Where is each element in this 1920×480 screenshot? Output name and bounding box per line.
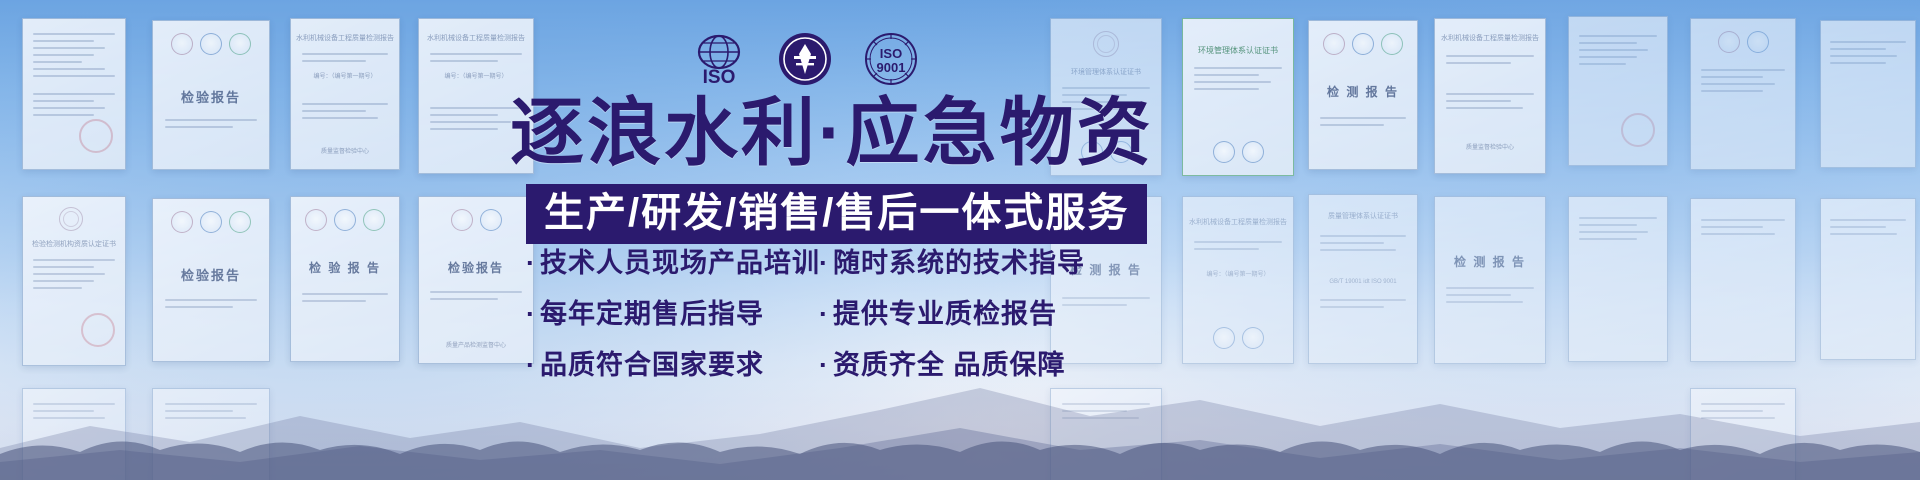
promo-banner: 检验报告 水利机械设备工程质量检测报告 编号：（编号第一期号） 质量监督检验中心…: [0, 0, 1920, 480]
feature-item: ·随时系统的技术指导: [819, 248, 1085, 279]
feature-item: ·技术人员现场产品培训: [526, 248, 811, 279]
certificate-card: 水利机械设备工程质量检测报告 编号：（编号第一期号） 质量监督检验中心: [290, 18, 400, 170]
iso-9001-badge: ISO 9001: [862, 30, 920, 93]
treeline-silhouette: [0, 420, 1920, 480]
feature-item: ·品质符合国家要求: [526, 350, 811, 381]
certificate-card: [22, 18, 126, 170]
feature-item: ·资质齐全 品质保障: [819, 350, 1085, 381]
certificate-card: 水利机械设备工程质量检测报告 质量监督检验中心: [1434, 18, 1546, 174]
bullet-dot: ·: [526, 350, 536, 380]
feature-label: 资质齐全 品质保障: [833, 350, 1066, 380]
subtitle-text: 生产/研发/销售/售后一体式服务: [544, 192, 1129, 234]
iso-9001-bottom-label: 9001: [877, 60, 906, 75]
feature-label: 品质符合国家要求: [540, 350, 764, 380]
bullet-dot: ·: [819, 299, 829, 329]
feature-label: 技术人员现场产品培训: [540, 248, 820, 278]
subtitle-bar: 生产/研发/销售/售后一体式服务: [526, 184, 1147, 244]
feature-label: 提供专业质检报告: [833, 299, 1057, 329]
feature-item: ·每年定期售后指导: [526, 299, 811, 330]
certificate-title: 检 测 报 告: [1309, 83, 1417, 100]
quality-seal-badge: [776, 30, 834, 93]
certificate-title: 检 测 报 告: [1435, 253, 1545, 270]
iso-badge-label: ISO: [703, 67, 736, 88]
feature-label: 随时系统的技术指导: [833, 248, 1085, 278]
feature-item: ·提供专业质检报告: [819, 299, 1085, 330]
certificate-title: 检验报告: [153, 265, 269, 284]
certificate-card: 检验报告: [152, 20, 270, 170]
certification-badges: ISO: [690, 30, 920, 93]
certificate-title: 检 验 报 告: [291, 259, 399, 276]
banner-headline: 逐浪水利·应急物资: [510, 96, 1154, 170]
certificate-card: [1690, 18, 1796, 170]
feature-list: ·技术人员现场产品培训 ·随时系统的技术指导 ·每年定期售后指导 ·提供专业质检…: [526, 248, 1085, 381]
iso-badge: ISO: [690, 30, 748, 93]
feature-label: 每年定期售后指导: [540, 299, 764, 329]
iso-9001-top-label: ISO: [880, 46, 902, 61]
bullet-dot: ·: [819, 350, 829, 380]
certificate-card: 环境管理体系认证证书: [1182, 18, 1294, 176]
certificate-title: 检验报告: [419, 259, 533, 276]
certificate-card: [1568, 16, 1668, 166]
bullet-dot: ·: [526, 248, 536, 278]
certificate-title: 检验报告: [153, 87, 269, 106]
certificate-card: 检 测 报 告: [1308, 20, 1418, 170]
bullet-dot: ·: [526, 299, 536, 329]
certificate-card: [1820, 20, 1916, 168]
bullet-dot: ·: [819, 248, 829, 278]
